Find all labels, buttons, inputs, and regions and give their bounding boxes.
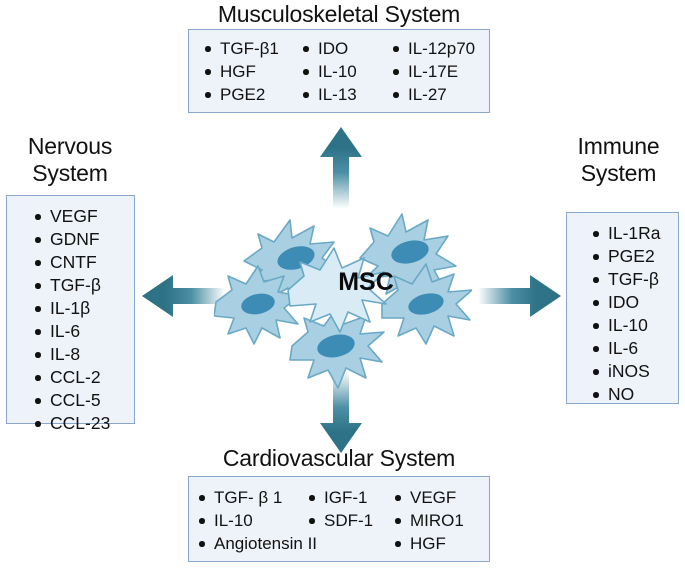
- list-item: IL-13: [301, 83, 391, 106]
- list-item: IL-10: [591, 314, 678, 337]
- list-item: IL-10: [301, 60, 391, 83]
- list-item: IL-1β: [33, 297, 134, 320]
- list-item: GDNF: [33, 228, 134, 251]
- heading-musculoskeletal: Musculoskeletal System: [188, 1, 490, 28]
- panel-cardiovascular-column-1: TGF- β 1 IL-10 Angiotensin II: [197, 486, 307, 561]
- list-item: IL-6: [591, 337, 678, 360]
- list-item: TGF-β1: [203, 37, 301, 60]
- panel-immune: IL-1Ra PGE2 TGF-β IDO IL-10 IL-6 iNOS NO: [566, 212, 679, 404]
- panel-nervous: VEGF GDNF CNTF TGF-β IL-1β IL-6 IL-8 CCL…: [6, 195, 135, 424]
- list-item: IL-8: [33, 343, 134, 366]
- list-item: NO: [591, 383, 678, 406]
- heading-immune: Immune System: [552, 133, 685, 186]
- arrow-right-icon: [462, 272, 562, 320]
- list-item: IL-12p70: [391, 37, 487, 60]
- list-item: IDO: [591, 291, 678, 314]
- list-item: IDO: [301, 37, 391, 60]
- list-item: IL-17E: [391, 60, 487, 83]
- panel-cardiovascular-column-3: VEGF MIRO1 HGF: [393, 486, 485, 561]
- list-item: HGF: [203, 60, 301, 83]
- list-item: PGE2: [591, 245, 678, 268]
- list-item: PGE2: [203, 83, 301, 106]
- panel-cardiovascular: TGF- β 1 IL-10 Angiotensin II IGF-1 SDF-…: [188, 476, 490, 562]
- list-item: CCL-23: [33, 412, 134, 435]
- list-item: TGF-β: [33, 274, 134, 297]
- list-item: IL-10: [197, 509, 307, 532]
- list-item: IL-1Ra: [591, 222, 678, 245]
- panel-cardiovascular-column-2: IGF-1 SDF-1: [307, 486, 393, 561]
- list-item: CCL-2: [33, 366, 134, 389]
- list-item: TGF- β 1: [197, 486, 307, 509]
- msc-secretome-diagram: Musculoskeletal System TGF-β1 HGF PGE2 I…: [0, 0, 685, 568]
- panel-musculoskeletal-column-1: TGF-β1 HGF PGE2: [203, 37, 301, 112]
- panel-musculoskeletal-column-3: IL-12p70 IL-17E IL-27: [391, 37, 487, 112]
- panel-musculoskeletal: TGF-β1 HGF PGE2 IDO IL-10 IL-13 IL-12p70…: [188, 29, 490, 113]
- panel-musculoskeletal-column-2: IDO IL-10 IL-13: [301, 37, 391, 112]
- list-item: HGF: [393, 532, 485, 555]
- list-item: CCL-5: [33, 389, 134, 412]
- list-item: SDF-1: [307, 509, 393, 532]
- list-item: VEGF: [393, 486, 485, 509]
- panel-nervous-column-1: VEGF GDNF CNTF TGF-β IL-1β IL-6 IL-8 CCL…: [7, 196, 134, 435]
- list-item: IL-6: [33, 320, 134, 343]
- list-item: IGF-1: [307, 486, 393, 509]
- list-item: Angiotensin II: [197, 532, 317, 555]
- panel-immune-column-1: IL-1Ra PGE2 TGF-β IDO IL-10 IL-6 iNOS NO: [567, 213, 678, 406]
- heading-nervous: Nervous System: [0, 133, 140, 186]
- list-item: CNTF: [33, 251, 134, 274]
- list-item: TGF-β: [591, 268, 678, 291]
- list-item: VEGF: [33, 205, 134, 228]
- center-label-msc: MSC: [326, 268, 406, 297]
- list-item: IL-27: [391, 83, 487, 106]
- list-item: iNOS: [591, 360, 678, 383]
- list-item: MIRO1: [393, 509, 485, 532]
